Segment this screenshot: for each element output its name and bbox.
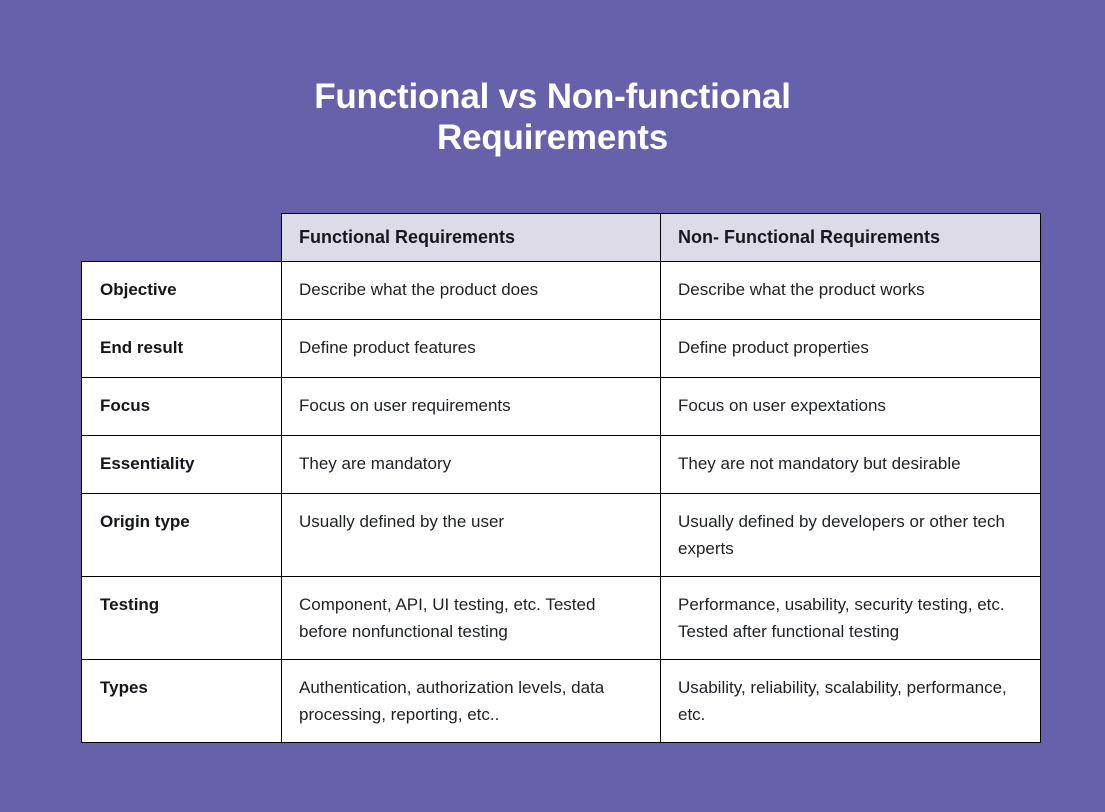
cell-nonfunctional-objective: Describe what the product works	[661, 262, 1041, 320]
table-row: End result Define product features Defin…	[82, 320, 1041, 378]
cell-functional-end-result: Define product features	[282, 320, 661, 378]
cell-functional-testing: Component, API, UI testing, etc. Tested …	[282, 577, 661, 660]
cell-nonfunctional-types: Usability, reliability, scalability, per…	[661, 660, 1041, 743]
row-label-essentiality: Essentiality	[82, 436, 282, 494]
cell-functional-essentiality: They are mandatory	[282, 436, 661, 494]
cell-functional-objective: Describe what the product does	[282, 262, 661, 320]
page-title: Functional vs Non-functional Requirement…	[0, 76, 1105, 158]
row-label-testing: Testing	[82, 577, 282, 660]
table-header-cell-empty	[82, 214, 282, 262]
table-row: Essentiality They are mandatory They are…	[82, 436, 1041, 494]
table-header-cell-functional: Functional Requirements	[282, 214, 661, 262]
row-label-objective: Objective	[82, 262, 282, 320]
page-title-line-1: Functional vs Non-functional	[0, 76, 1105, 117]
table-row: Objective Describe what the product does…	[82, 262, 1041, 320]
slide-canvas: Functional vs Non-functional Requirement…	[0, 0, 1105, 812]
cell-functional-types: Authentication, authorization levels, da…	[282, 660, 661, 743]
cell-nonfunctional-essentiality: They are not mandatory but desirable	[661, 436, 1041, 494]
table-body: Objective Describe what the product does…	[82, 262, 1041, 743]
cell-nonfunctional-testing: Performance, usability, security testing…	[661, 577, 1041, 660]
page-title-line-2: Requirements	[0, 117, 1105, 158]
table-row: Types Authentication, authorization leve…	[82, 660, 1041, 743]
table-row: Testing Component, API, UI testing, etc.…	[82, 577, 1041, 660]
table-header: Functional Requirements Non- Functional …	[82, 214, 1041, 262]
comparison-table-wrapper: Functional Requirements Non- Functional …	[81, 213, 1040, 743]
table-row: Origin type Usually defined by the user …	[82, 494, 1041, 577]
table-row: Focus Focus on user requirements Focus o…	[82, 378, 1041, 436]
cell-nonfunctional-focus: Focus on user expextations	[661, 378, 1041, 436]
cell-nonfunctional-origin-type: Usually defined by developers or other t…	[661, 494, 1041, 577]
table-header-cell-nonfunctional: Non- Functional Requirements	[661, 214, 1041, 262]
row-label-focus: Focus	[82, 378, 282, 436]
cell-nonfunctional-end-result: Define product properties	[661, 320, 1041, 378]
table-header-row: Functional Requirements Non- Functional …	[82, 214, 1041, 262]
comparison-table: Functional Requirements Non- Functional …	[81, 213, 1041, 743]
cell-functional-origin-type: Usually defined by the user	[282, 494, 661, 577]
row-label-end-result: End result	[82, 320, 282, 378]
row-label-types: Types	[82, 660, 282, 743]
cell-functional-focus: Focus on user requirements	[282, 378, 661, 436]
row-label-origin-type: Origin type	[82, 494, 282, 577]
